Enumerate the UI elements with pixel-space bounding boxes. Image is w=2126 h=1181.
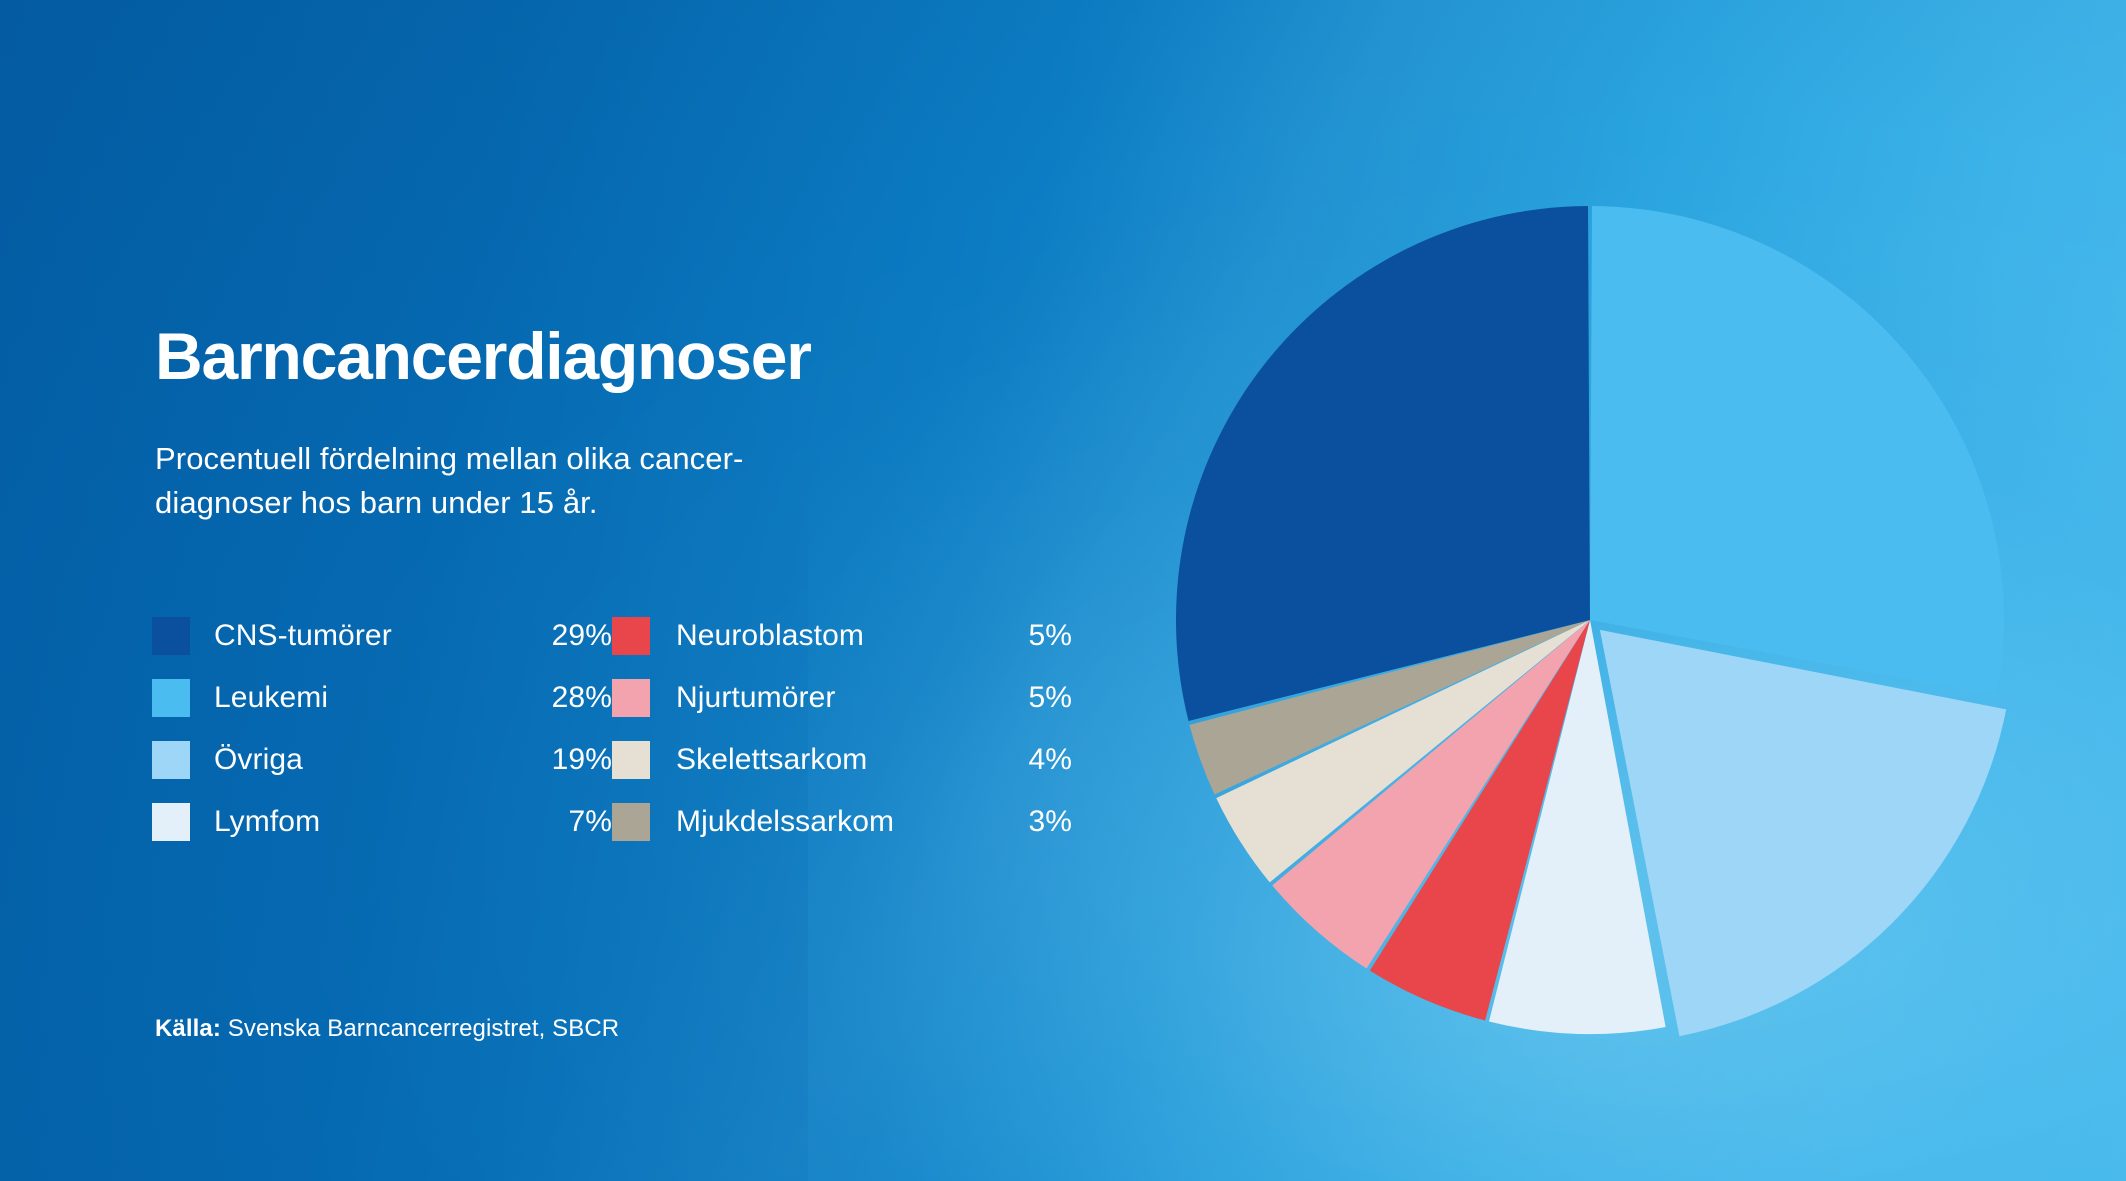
pie-slice-vriga[interactable] xyxy=(1600,630,2006,1036)
legend-swatch-skelettsarkom xyxy=(612,741,650,779)
legend-value-lymfom: 7% xyxy=(534,805,612,839)
pie-slice-group xyxy=(1176,206,2006,1036)
source-label: Källa: xyxy=(155,1015,221,1042)
legend-label-lymfom: Lymfom xyxy=(214,805,534,839)
legend-swatch-njurtumorer xyxy=(612,679,650,717)
pie-chart xyxy=(1090,120,2090,1120)
legend-label-skelettsarkom: Skelettsarkom xyxy=(676,743,1008,777)
legend-label-mjukdelssarkom: Mjukdelssarkom xyxy=(676,805,1008,839)
page-title: Barncancerdiagnoser xyxy=(155,322,811,391)
subtitle-line-2: diagnoser hos barn under 15 år. xyxy=(155,481,895,525)
legend-swatch-cns-tumorer xyxy=(152,617,190,655)
legend-value-cns-tumorer: 29% xyxy=(534,619,612,653)
legend-swatch-ovriga xyxy=(152,741,190,779)
text-panel: Barncancerdiagnoser Procentuell fördelni… xyxy=(152,0,1102,1181)
legend-label-neuroblastom: Neuroblastom xyxy=(676,619,1008,653)
legend-value-ovriga: 19% xyxy=(534,743,612,777)
infographic-canvas: Barncancerdiagnoser Procentuell fördelni… xyxy=(0,0,2126,1181)
subtitle-line-1: Procentuell fördelning mellan olika canc… xyxy=(155,437,895,481)
legend-item-mjukdelssarkom[interactable]: Mjukdelssarkom 3% xyxy=(612,791,1072,853)
legend-value-leukemi: 28% xyxy=(534,681,612,715)
legend-swatch-neuroblastom xyxy=(612,617,650,655)
legend-label-njurtumorer: Njurtumörer xyxy=(676,681,1008,715)
legend-label-leukemi: Leukemi xyxy=(214,681,534,715)
legend-swatch-leukemi xyxy=(152,679,190,717)
pie-slice-leukemi[interactable] xyxy=(1590,206,2004,696)
legend-swatch-lymfom xyxy=(152,803,190,841)
legend-item-leukemi[interactable]: Leukemi 28% xyxy=(152,667,612,729)
pie-chart-svg xyxy=(1090,120,2090,1120)
chart-legend: CNS-tumörer 29% Leukemi 28% Övriga 19% L… xyxy=(152,605,1072,853)
source-text: Svenska Barncancerregistret, SBCR xyxy=(221,1015,619,1042)
legend-column-right: Neuroblastom 5% Njurtumörer 5% Skelettsa… xyxy=(612,605,1072,853)
legend-value-neuroblastom: 5% xyxy=(1008,619,1072,653)
legend-column-left: CNS-tumörer 29% Leukemi 28% Övriga 19% L… xyxy=(152,605,612,853)
legend-item-njurtumorer[interactable]: Njurtumörer 5% xyxy=(612,667,1072,729)
legend-item-lymfom[interactable]: Lymfom 7% xyxy=(152,791,612,853)
legend-item-skelettsarkom[interactable]: Skelettsarkom 4% xyxy=(612,729,1072,791)
legend-label-cns-tumorer: CNS-tumörer xyxy=(214,619,534,653)
legend-label-ovriga: Övriga xyxy=(214,743,534,777)
legend-item-neuroblastom[interactable]: Neuroblastom 5% xyxy=(612,605,1072,667)
source-note: Källa: Svenska Barncancerregistret, SBCR xyxy=(155,1015,619,1043)
legend-item-ovriga[interactable]: Övriga 19% xyxy=(152,729,612,791)
legend-item-cns-tumorer[interactable]: CNS-tumörer 29% xyxy=(152,605,612,667)
legend-value-mjukdelssarkom: 3% xyxy=(1008,805,1072,839)
legend-value-njurtumorer: 5% xyxy=(1008,681,1072,715)
legend-value-skelettsarkom: 4% xyxy=(1008,743,1072,777)
page-subtitle: Procentuell fördelning mellan olika canc… xyxy=(155,437,895,525)
legend-swatch-mjukdelssarkom xyxy=(612,803,650,841)
